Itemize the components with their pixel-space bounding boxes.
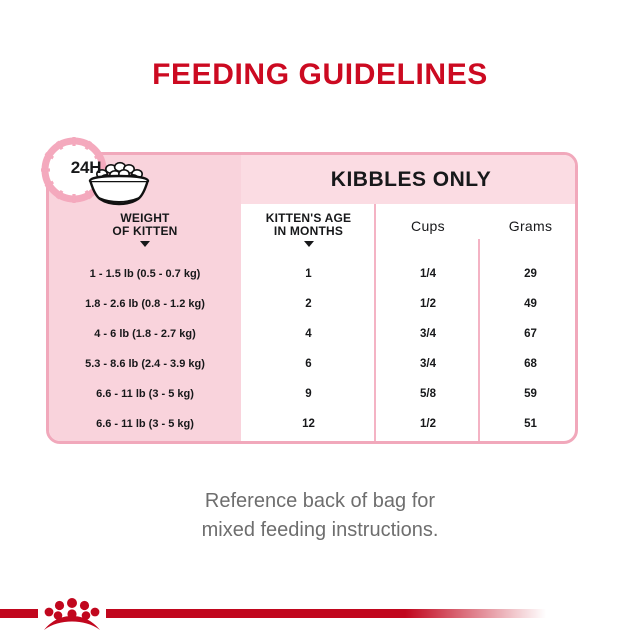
cell-cups: 3/4 <box>376 349 480 379</box>
table-row: 6.6 - 11 lb (3 - 5 kg) 12 1/2 51 <box>49 409 578 439</box>
page-title: FEEDING GUIDELINES <box>0 58 640 92</box>
column-header-age-label: KITTEN'S AGE IN MONTHS <box>241 204 376 238</box>
cell-weight: 1.8 - 2.6 lb (0.8 - 1.2 kg) <box>49 289 241 319</box>
cell-grams: 68 <box>480 349 578 379</box>
column-header-cups-label: Cups <box>376 204 480 233</box>
footer-bar-right <box>106 609 546 618</box>
cell-weight: 5.3 - 8.6 lb (2.4 - 3.9 kg) <box>49 349 241 379</box>
cell-cups: 1/2 <box>376 289 480 319</box>
column-header-cups: Cups <box>376 204 480 259</box>
royal-canin-crown-logo <box>38 596 106 636</box>
caret-down-icon <box>304 241 314 247</box>
cell-age: 6 <box>241 349 376 379</box>
table-row: 6.6 - 11 lb (3 - 5 kg) 9 5/8 59 <box>49 379 578 409</box>
table-row: 4 - 6 lb (1.8 - 2.7 kg) 4 3/4 67 <box>49 319 578 349</box>
caret-down-icon <box>140 241 150 247</box>
column-header-weight: WEIGHT OF KITTEN <box>49 204 241 259</box>
cell-cups: 1/4 <box>376 259 480 289</box>
table-body: 1 - 1.5 lb (0.5 - 0.7 kg) 1 1/4 29 1.8 -… <box>49 259 578 439</box>
table-row: 1.8 - 2.6 lb (0.8 - 1.2 kg) 2 1/2 49 <box>49 289 578 319</box>
table-header-row: WEIGHT OF KITTEN KITTEN'S AGE IN MONTHS … <box>49 204 578 259</box>
table-row: 1 - 1.5 lb (0.5 - 0.7 kg) 1 1/4 29 <box>49 259 578 289</box>
cell-grams: 51 <box>480 409 578 439</box>
footer-bar-left <box>0 609 38 618</box>
cell-weight: 1 - 1.5 lb (0.5 - 0.7 kg) <box>49 259 241 289</box>
feeding-frequency-badge: 24H <box>38 134 150 210</box>
column-header-grams-label: Grams <box>480 204 578 233</box>
cell-cups: 3/4 <box>376 319 480 349</box>
cell-weight: 6.6 - 11 lb (3 - 5 kg) <box>49 379 241 409</box>
cell-age: 4 <box>241 319 376 349</box>
column-header-age: KITTEN'S AGE IN MONTHS <box>241 204 376 259</box>
kibbles-only-banner-label: KIBBLES ONLY <box>241 155 578 204</box>
cell-grams: 59 <box>480 379 578 409</box>
badge-label: 24H <box>54 158 118 178</box>
brand-footer-strip <box>0 596 640 640</box>
cell-age: 1 <box>241 259 376 289</box>
cell-age: 2 <box>241 289 376 319</box>
cell-weight: 6.6 - 11 lb (3 - 5 kg) <box>49 409 241 439</box>
column-header-grams: Grams <box>480 204 578 259</box>
table-row: 5.3 - 8.6 lb (2.4 - 3.9 kg) 6 3/4 68 <box>49 349 578 379</box>
reference-note-line1: Reference back of bag for <box>205 490 435 512</box>
cell-age: 9 <box>241 379 376 409</box>
cell-cups: 1/2 <box>376 409 480 439</box>
cell-grams: 29 <box>480 259 578 289</box>
cell-cups: 5/8 <box>376 379 480 409</box>
cell-grams: 67 <box>480 319 578 349</box>
cell-grams: 49 <box>480 289 578 319</box>
cell-age: 12 <box>241 409 376 439</box>
cell-weight: 4 - 6 lb (1.8 - 2.7 kg) <box>49 319 241 349</box>
reference-note: Reference back of bag for mixed feeding … <box>0 487 640 545</box>
reference-note-line2: mixed feeding instructions. <box>202 519 439 541</box>
